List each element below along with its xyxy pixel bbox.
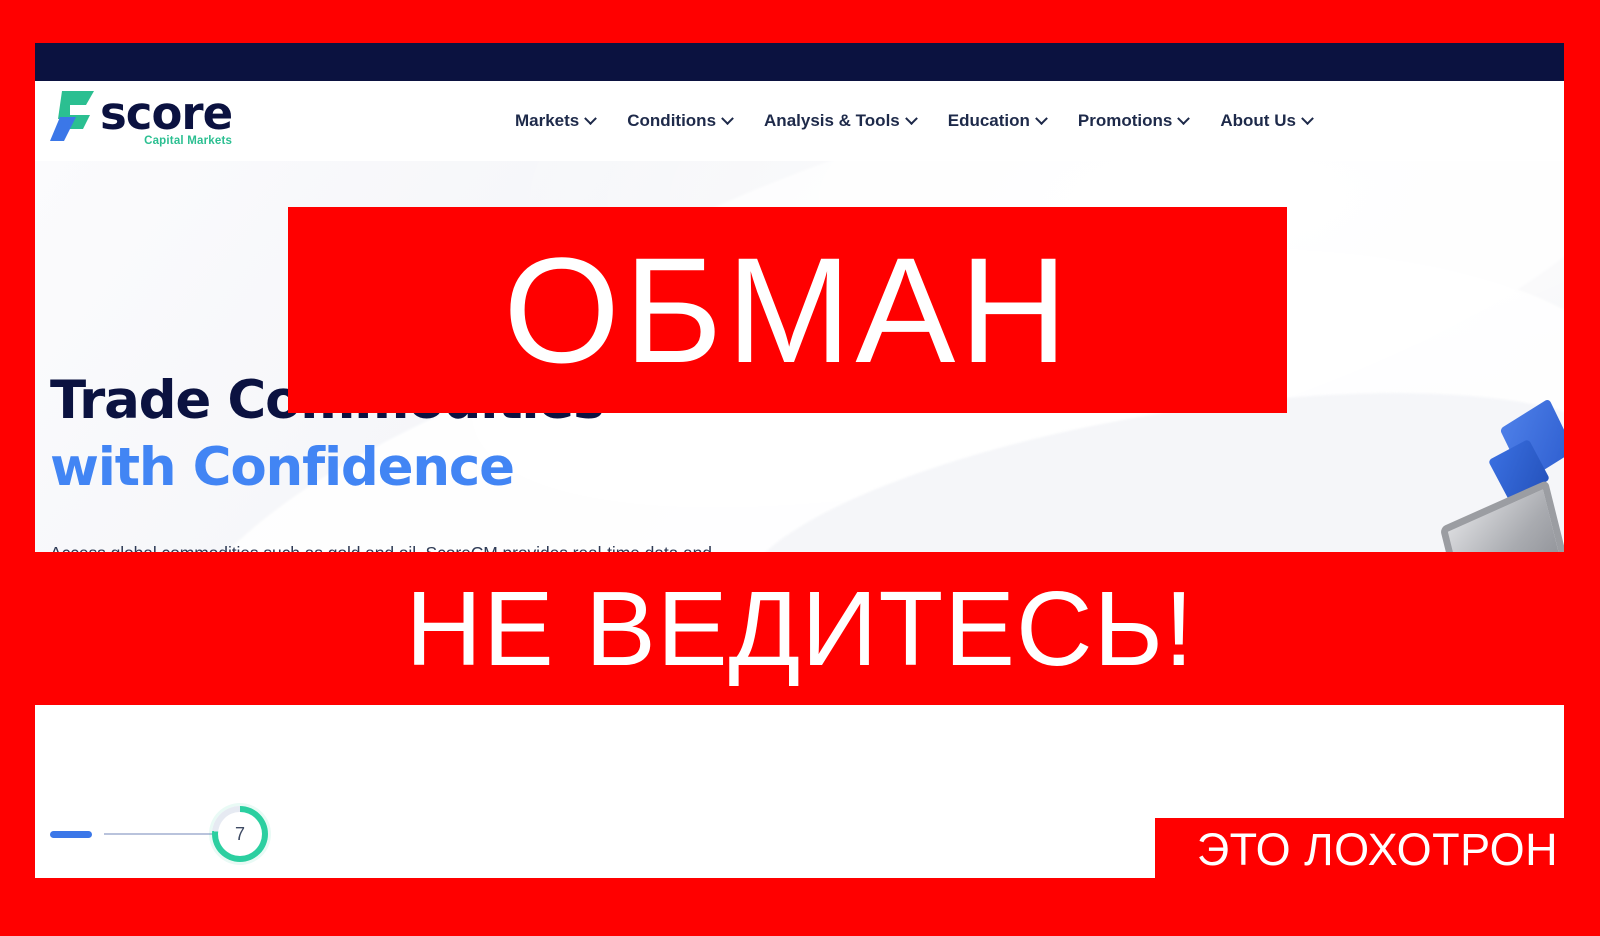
warning-overlay-obman: ОБМАН <box>288 207 1287 413</box>
chevron-down-icon <box>1035 112 1048 125</box>
warning-text-obman: ОБМАН <box>503 235 1071 385</box>
main-navigation: Markets Conditions Analysis & Tools Educ… <box>515 81 1312 161</box>
chevron-down-icon <box>584 112 597 125</box>
nav-label: Markets <box>515 111 579 131</box>
carousel-slide-number: 7 <box>235 824 245 845</box>
chevron-down-icon <box>1301 112 1314 125</box>
site-header: score Capital Markets Markets Conditions… <box>35 81 1564 161</box>
carousel-track-line <box>104 833 216 835</box>
chevron-down-icon <box>721 112 734 125</box>
chevron-down-icon <box>1178 112 1191 125</box>
nav-label: Promotions <box>1078 111 1172 131</box>
nav-label: Education <box>948 111 1030 131</box>
nav-item-conditions[interactable]: Conditions <box>627 111 732 131</box>
website-screenshot: score Capital Markets Markets Conditions… <box>35 43 1564 878</box>
hero-carousel-indicator[interactable]: 7 <box>50 806 268 862</box>
nav-label: About Us <box>1220 111 1296 131</box>
site-logo[interactable]: score Capital Markets <box>50 89 232 153</box>
nav-item-about-us[interactable]: About Us <box>1220 111 1312 131</box>
nav-item-analysis-and-tools[interactable]: Analysis & Tools <box>764 111 916 131</box>
illustration-gray-device <box>1440 480 1564 552</box>
logo-wordmark: score <box>100 91 232 137</box>
nav-item-promotions[interactable]: Promotions <box>1078 111 1188 131</box>
nav-label: Conditions <box>627 111 716 131</box>
nav-item-education[interactable]: Education <box>948 111 1046 131</box>
warning-overlay-band: НЕ ВЕДИТЕСЬ! <box>0 552 1600 705</box>
carousel-progress-ring[interactable]: 7 <box>212 806 268 862</box>
top-utility-bar <box>35 43 1564 81</box>
hero-3d-illustration <box>1430 411 1564 552</box>
nav-label: Analysis & Tools <box>764 111 900 131</box>
chevron-down-icon <box>905 112 918 125</box>
carousel-active-dash[interactable] <box>50 831 92 838</box>
hero-heading-line2: with Confidence <box>50 434 603 501</box>
hero-subtitle: Access global commodities such as gold a… <box>50 543 712 552</box>
warning-text-do-not-fall-for-it: НЕ ВЕДИТЕСЬ! <box>405 576 1194 682</box>
warning-overlay-corner: ЭТО ЛОХОТРОН <box>1155 818 1600 880</box>
score-logo-mark-icon <box>50 89 96 153</box>
red-warning-frame: score Capital Markets Markets Conditions… <box>0 0 1600 936</box>
warning-text-scam: ЭТО ЛОХОТРОН <box>1197 827 1558 872</box>
nav-item-markets[interactable]: Markets <box>515 111 595 131</box>
